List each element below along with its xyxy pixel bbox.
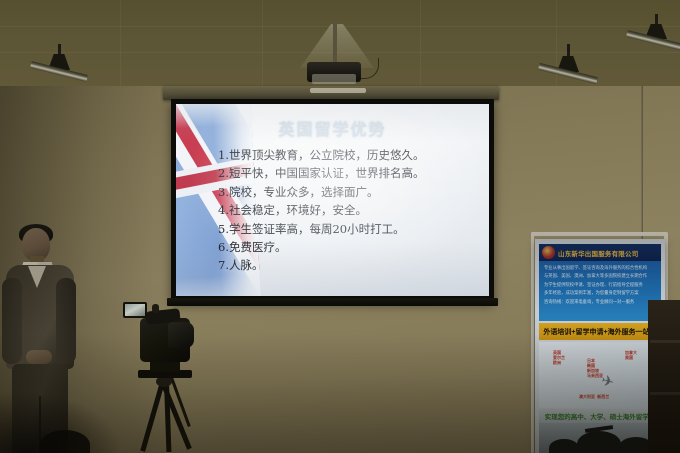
screen-case-handle — [310, 88, 366, 93]
projection-screen: 英国留学优势 1.世界顶尖教育，公立院校，历史悠久。 2.短平快，中国国家认证，… — [171, 99, 494, 301]
slide-title: 英国留学优势 — [176, 116, 489, 140]
list-item: 3.院校，专业众多，选择面广。 — [218, 183, 481, 201]
slide-bullet-list: 1.世界顶尖教育，公立院校，历史悠久。 2.短平快，中国国家认证，世界排名高。 … — [218, 146, 481, 275]
lcd-display — [125, 304, 145, 316]
foreground-shadow — [0, 393, 120, 453]
banner-body-line: 专业从事出国留学、签证咨询及海外服务的综合性机构 — [544, 265, 656, 271]
banner-body-line: 咨询热线：欢迎来电垂询，专业顾问一对一服务 — [544, 299, 656, 305]
screen-bottom-weight-bar — [167, 298, 498, 306]
company-logo-icon — [542, 246, 555, 259]
ceiling-seam — [262, 0, 263, 92]
ceiling-seam — [420, 0, 421, 92]
banner-body-line: 为学生提供院校申请、签证办理、行前指导全程服务 — [544, 282, 656, 288]
camera-microphone — [152, 304, 159, 313]
list-item: 5.学生签证率高，每周20小时打工。 — [218, 220, 481, 238]
banner-body-text: 专业从事出国留学、签证咨询及海外服务的综合性机构 与英国、美国、澳洲、加拿大等多… — [539, 261, 661, 321]
banner-header: 山东新华出国服务有限公司 — [539, 244, 661, 261]
list-item: 7.人脉。 — [218, 256, 481, 274]
slide-surface: 英国留学优势 1.世界顶尖教育，公立院校，历史悠久。 2.短平快，中国国家认证，… — [176, 104, 489, 296]
ceiling-seam — [556, 0, 557, 92]
list-item: 2.短平快，中国国家认证，世界排名高。 — [218, 164, 481, 182]
projector-lens-face — [312, 74, 356, 84]
projector-mount-pole — [333, 22, 337, 66]
seminar-room-photo: 英国留学优势 1.世界顶尖教育，公立院校，历史悠久。 2.短平快，中国国家认证，… — [0, 0, 680, 453]
banner-body-line: 与英国、美国、澳洲、加拿大等多国院校建立长期合作 — [544, 273, 656, 279]
list-item: 6.免费医疗。 — [218, 238, 481, 256]
company-name: 山东新华出国服务有限公司 — [558, 248, 638, 258]
banner-body-line: 多年经验，成功案例丰富，为您量身定制留学方案 — [544, 290, 656, 296]
list-item: 1.世界顶尖教育，公立院校，历史悠久。 — [218, 146, 481, 164]
banner-stand-crossbar — [531, 232, 668, 236]
retractable-screen-case — [163, 86, 499, 100]
ceiling-seam — [120, 0, 121, 92]
list-item: 4.社会稳定，环境好，安全。 — [218, 201, 481, 219]
camera-lcd-screen — [123, 302, 147, 318]
light-stem — [567, 44, 570, 58]
